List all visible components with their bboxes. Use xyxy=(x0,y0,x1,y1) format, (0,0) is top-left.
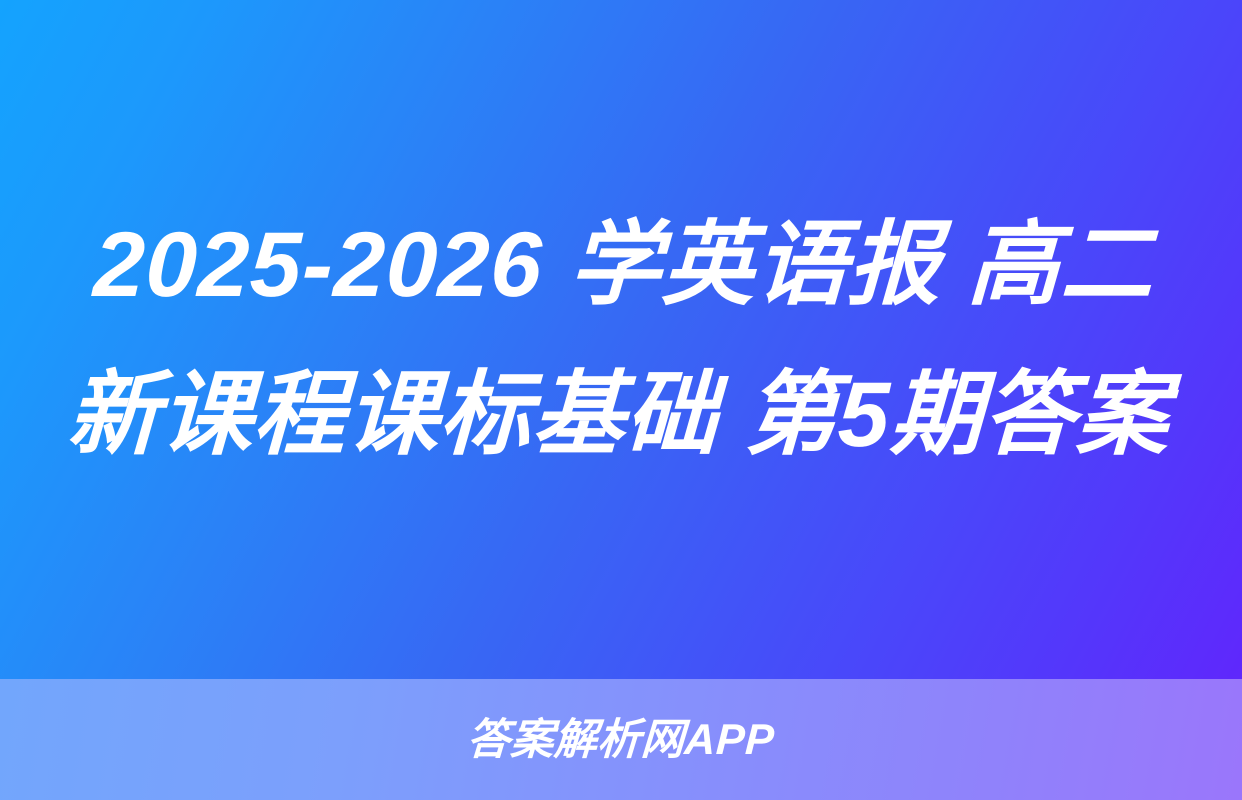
footer-brand-bar: 答案解析网APP xyxy=(0,679,1242,800)
hero-section: 2025-2026 学英语报 高二 新课程课标基础 第5期答案 xyxy=(0,0,1242,680)
answer-cover-card: 2025-2026 学英语报 高二 新课程课标基础 第5期答案 答案解析网APP xyxy=(0,0,1242,800)
page-title: 2025-2026 学英语报 高二 新课程课标基础 第5期答案 xyxy=(57,190,1185,490)
app-brand-label: 答案解析网APP xyxy=(466,717,776,763)
